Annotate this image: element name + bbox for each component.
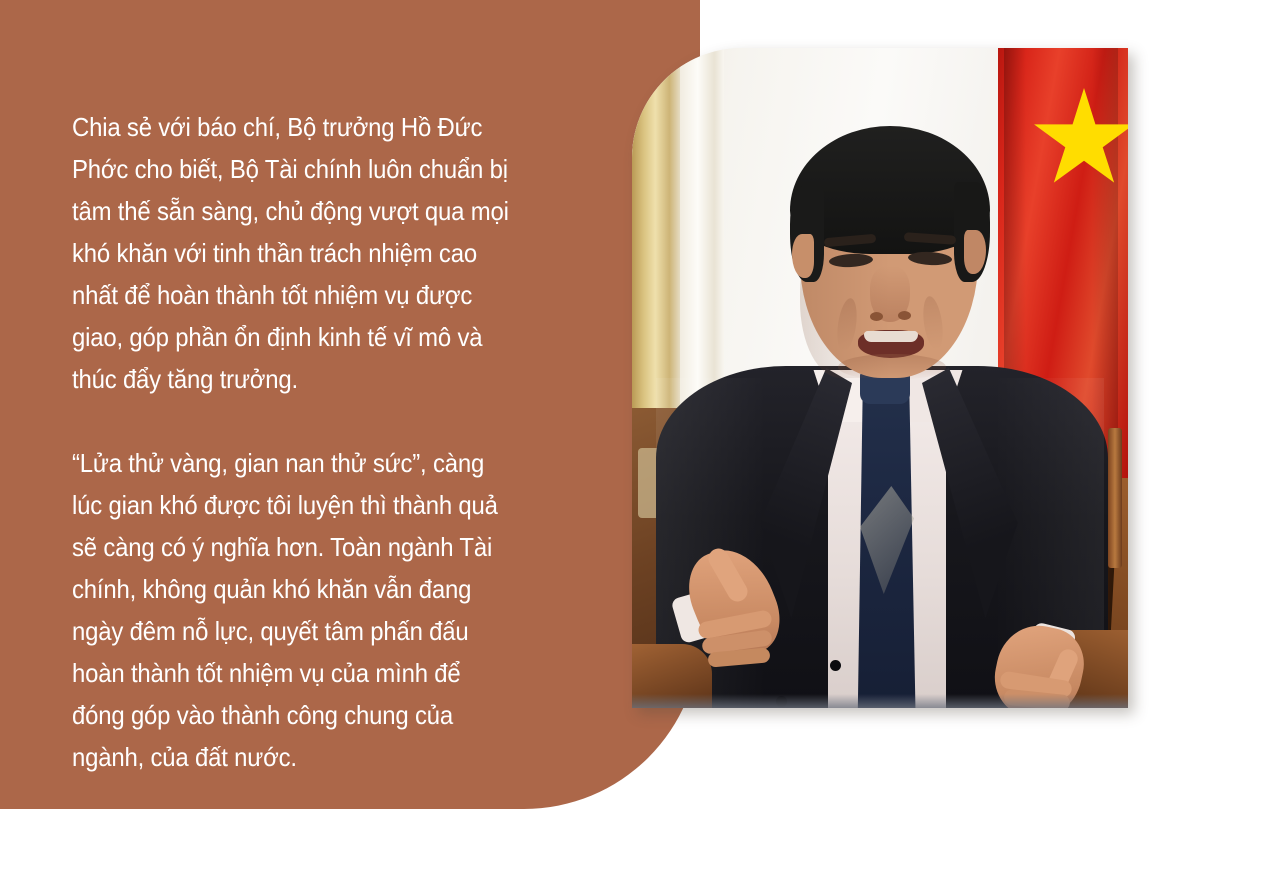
quote-paragraph-2: “Lửa thử vàng, gian nan thử sức”, càng l…: [72, 442, 512, 778]
person-teeth: [864, 331, 918, 342]
quote-panel: Chia sẻ với báo chí, Bộ trưởng Hồ Đức Ph…: [0, 0, 700, 809]
portrait-photo-image: [632, 48, 1128, 708]
chin-shadow: [838, 354, 946, 380]
person-ear-left: [792, 234, 814, 278]
quote-text-block: Chia sẻ với báo chí, Bộ trưởng Hồ Đức Ph…: [72, 106, 550, 778]
page-root: Chia sẻ với báo chí, Bộ trưởng Hồ Đức Ph…: [0, 0, 1280, 873]
flag-pole: [1108, 428, 1122, 568]
nostril-left: [870, 312, 883, 321]
quote-paragraph-1: Chia sẻ với báo chí, Bộ trưởng Hồ Đức Ph…: [72, 106, 512, 400]
photo-bottom-edge-shade: [632, 694, 1128, 708]
portrait-photo-card: [632, 48, 1128, 708]
nostril-right: [898, 311, 911, 320]
suit-button-upper: [830, 660, 841, 671]
